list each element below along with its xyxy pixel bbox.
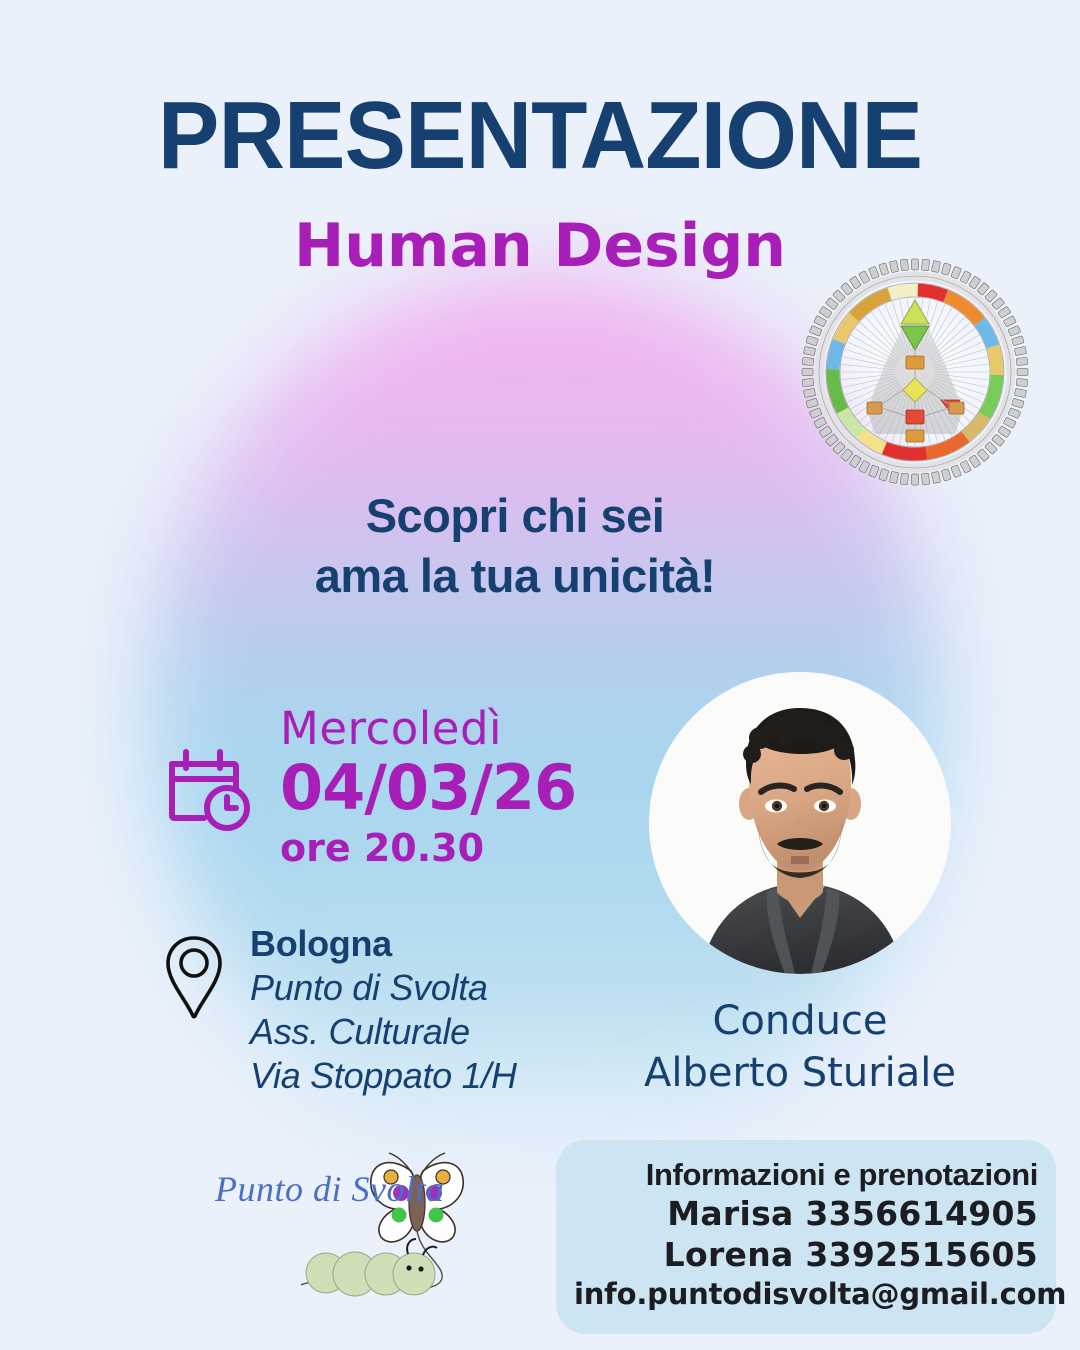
location-street: Via Stoppato 1/H (250, 1054, 517, 1098)
location-venue: Punto di Svolta (250, 966, 517, 1010)
caterpillar-icon (306, 1239, 437, 1296)
page-title: PRESENTAZIONE (22, 88, 1059, 184)
contact-email[interactable]: info.puntodisvolta@gmail.com (574, 1276, 1038, 1314)
calendar-clock-icon (162, 742, 254, 839)
logo-wordmark: Punto di Svolta (214, 1169, 444, 1209)
event-location-text: Bologna Punto di Svolta Ass. Culturale V… (250, 922, 517, 1098)
contact-box: Informazioni e prenotazioni Marisa 33566… (556, 1140, 1056, 1334)
contact-person-1[interactable]: Marisa 3356614905 (574, 1194, 1038, 1235)
event-weekday: Mercoledì (280, 706, 576, 751)
event-date-text: Mercoledì 04/03/26 ore 20.30 (280, 706, 576, 870)
speaker-caption: Conduce Alberto Sturiale (600, 995, 1000, 1099)
event-time: ore 20.30 (280, 828, 576, 870)
speaker-photo (649, 672, 951, 974)
event-location-block: Bologna Punto di Svolta Ass. Culturale V… (162, 922, 662, 1098)
location-venue-type: Ass. Culturale (250, 1010, 517, 1054)
tagline: Scopri chi sei ama la tua unicità! (120, 486, 910, 606)
tagline-line-1: Scopri chi sei (120, 486, 910, 546)
organisation-logo: Punto di Svolta (205, 1135, 535, 1315)
event-date: 04/03/26 (280, 753, 576, 822)
location-city: Bologna (250, 922, 517, 966)
event-date-block: Mercoledì 04/03/26 ore 20.30 (162, 706, 632, 870)
map-pin-icon (162, 932, 226, 1027)
tagline-line-2: ama la tua unicità! (120, 546, 910, 606)
speaker-name: Alberto Sturiale (600, 1047, 1000, 1099)
human-design-mandala-icon (795, 252, 1035, 492)
contact-person-2[interactable]: Lorena 3392515605 (574, 1235, 1038, 1276)
speaker-role: Conduce (600, 995, 1000, 1047)
poster-canvas: PRESENTAZIONE Human Design (0, 0, 1080, 1350)
contact-heading: Informazioni e prenotazioni (574, 1156, 1038, 1194)
